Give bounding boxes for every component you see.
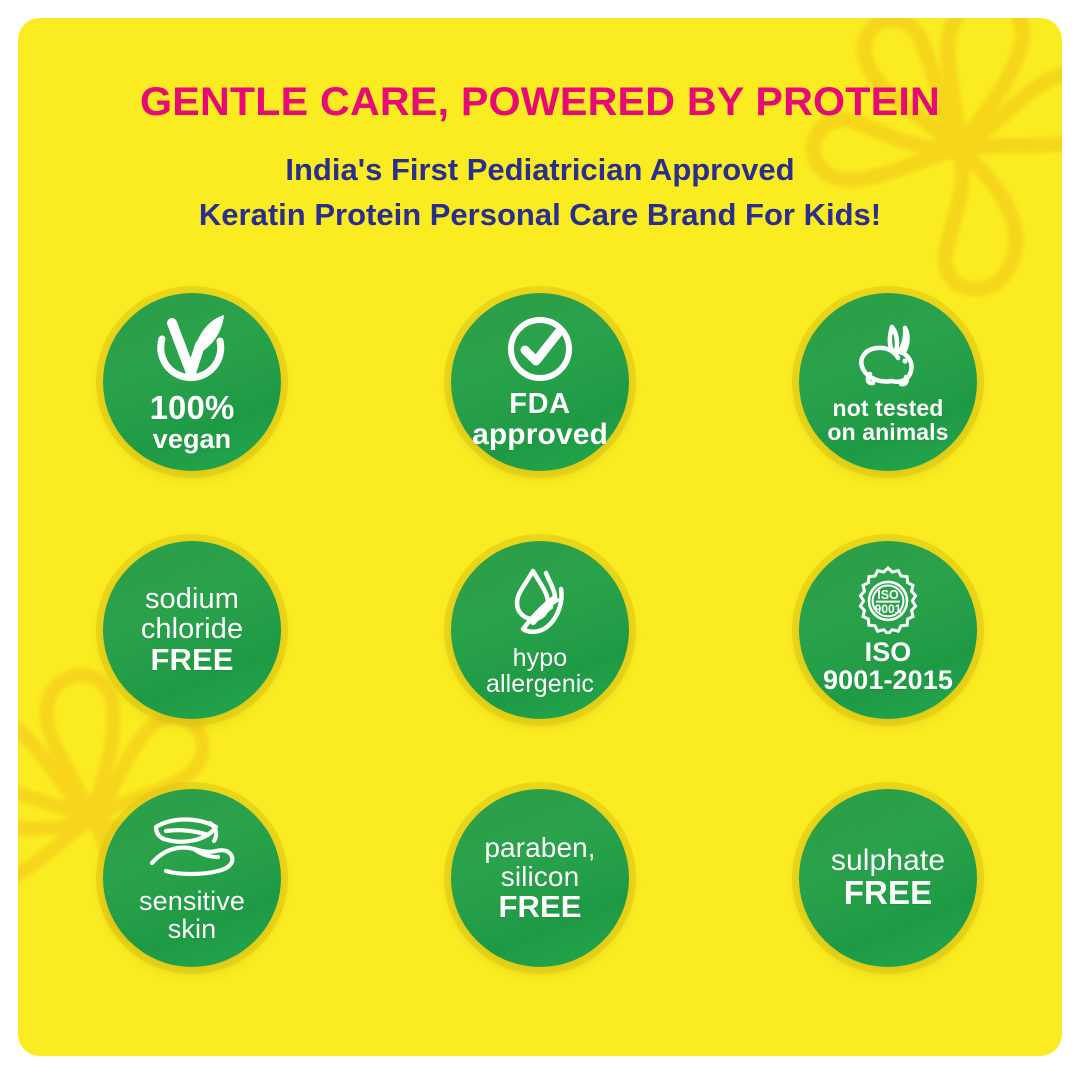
badge-sensitive-skin: sensitive skin <box>103 789 281 967</box>
badge-vegan-line1: 100% <box>150 391 235 425</box>
badge-paraben-line1: paraben, <box>484 833 595 862</box>
badge-not-tested-line1: not tested <box>827 397 948 421</box>
badge-grid: 100% vegan FDA approved <box>18 293 1062 1037</box>
badge-sodium-chloride-line3: FREE <box>141 644 243 676</box>
check-circle-icon <box>504 313 576 385</box>
badge-iso-line2: 9001-2015 <box>823 666 953 694</box>
badge-not-tested-on-animals: not tested on animals <box>799 293 977 471</box>
badge-fda: FDA approved <box>451 293 629 471</box>
badge-iso: ISO 9001 ISO 9001-2015 <box>799 541 977 719</box>
badge-fda-line1: FDA <box>472 389 608 419</box>
badge-vegan: 100% vegan <box>103 293 281 471</box>
badge-hypoallergenic-caption: hypo allergenic <box>486 645 594 697</box>
subtitle-line-2: Keratin Protein Personal Care Brand For … <box>18 193 1062 238</box>
page-title: GENTLE CARE, POWERED BY PROTEIN <box>18 80 1062 125</box>
badge-sensitive-skin-line2: skin <box>139 915 245 943</box>
badge-vegan-line2: vegan <box>150 425 235 453</box>
page-subtitle: India's First Pediatrician Approved Kera… <box>18 148 1062 238</box>
leaf-check-vegan-icon <box>150 311 234 387</box>
badge-hypoallergenic-line1: hypo <box>486 645 594 671</box>
badge-sensitive-skin-caption: sensitive skin <box>139 887 245 943</box>
badge-sodium-chloride-line2: chloride <box>141 614 243 644</box>
badge-sensitive-skin-line1: sensitive <box>139 887 245 915</box>
badge-paraben-silicon-free: paraben, silicon FREE <box>451 789 629 967</box>
iso-seal-icon: ISO 9001 <box>854 566 922 634</box>
badge-paraben-caption: paraben, silicon FREE <box>484 833 595 923</box>
badge-sodium-chloride-free: sodium chloride FREE <box>103 541 281 719</box>
badge-sulphate-caption: sulphate FREE <box>831 845 945 911</box>
leaf-droplet-icon <box>503 563 577 641</box>
badge-sulphate-free: sulphate FREE <box>799 789 977 967</box>
badge-not-tested-line2: on animals <box>827 421 948 445</box>
hand-leaf-icon <box>146 813 238 883</box>
iso-seal-line1: ISO <box>877 588 899 602</box>
badge-paraben-line3: FREE <box>484 891 595 923</box>
badge-sulphate-line1: sulphate <box>831 845 945 876</box>
badge-sodium-chloride-caption: sodium chloride FREE <box>141 584 243 677</box>
badge-paraben-line2: silicon <box>484 862 595 891</box>
badge-iso-line1: ISO <box>823 638 953 666</box>
subtitle-line-1: India's First Pediatrician Approved <box>18 148 1062 193</box>
badge-hypoallergenic: hypo allergenic <box>451 541 629 719</box>
badge-not-tested-caption: not tested on animals <box>827 397 948 445</box>
badge-sulphate-line2: FREE <box>831 876 945 910</box>
badge-hypoallergenic-line2: allergenic <box>486 671 594 697</box>
yellow-panel: GENTLE CARE, POWERED BY PROTEIN India's … <box>18 18 1062 1056</box>
iso-seal-line2: 9001 <box>875 602 902 616</box>
badge-fda-caption: FDA approved <box>472 389 608 450</box>
rabbit-icon <box>848 319 928 393</box>
badge-iso-caption: ISO 9001-2015 <box>823 638 953 694</box>
poster-canvas: GENTLE CARE, POWERED BY PROTEIN India's … <box>0 0 1080 1076</box>
badge-vegan-caption: 100% vegan <box>150 391 235 453</box>
badge-fda-line2: approved <box>472 419 608 450</box>
badge-sodium-chloride-line1: sodium <box>141 584 243 614</box>
